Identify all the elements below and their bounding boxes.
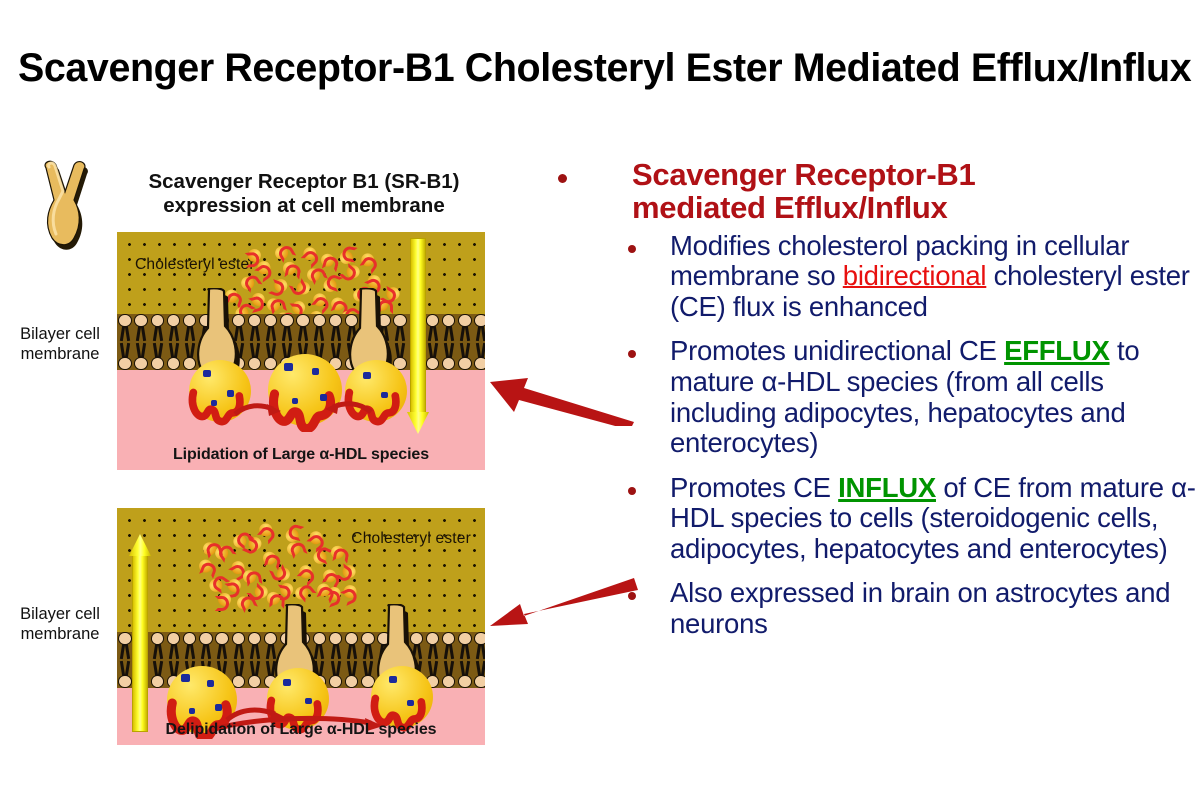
phospholipid xyxy=(247,660,263,688)
phospholipid xyxy=(441,660,457,688)
bullet-brain-expression: Also expressed in brain on astrocytes an… xyxy=(540,578,1199,639)
main-heading-line1: Scavenger Receptor-B1 xyxy=(632,158,1199,191)
bullet-list: Modifies cholesterol packing in cellular… xyxy=(540,231,1199,639)
bullet-efflux-text: Promotes unidirectional CE EFFLUX to mat… xyxy=(670,336,1199,458)
main-heading-line2: mediated Efflux/Influx xyxy=(632,191,1199,224)
bullet-brain-expression-text: Also expressed in brain on astrocytes an… xyxy=(670,578,1199,639)
bullet-dot-icon xyxy=(628,245,636,253)
sr-b1-receptor-icon xyxy=(36,158,96,250)
bullet-influx-text: Promotes CE INFLUX of CE from mature α-H… xyxy=(670,473,1199,565)
phospholipid xyxy=(457,660,473,688)
slide-root: Scavenger Receptor-B1 Cholesteryl Ester … xyxy=(0,0,1199,812)
phospholipid xyxy=(441,632,457,660)
phospholipid xyxy=(441,342,457,370)
phospholipid xyxy=(149,314,165,342)
phospholipid xyxy=(149,342,165,370)
membrane-label-line1: Bilayer cell xyxy=(4,605,116,625)
influx-panel: Cholesteryl ester xyxy=(117,508,485,745)
cholesteryl-ester-molecule xyxy=(284,526,300,544)
phospholipid xyxy=(247,632,263,660)
bullet-text-run: Promotes CE xyxy=(670,472,838,503)
highlighted-term: bidirectional xyxy=(843,260,987,291)
phospholipid xyxy=(182,632,198,660)
phospholipid xyxy=(263,314,279,342)
phospholipid xyxy=(214,632,230,660)
main-heading-bullet: Scavenger Receptor-B1 mediated Efflux/In… xyxy=(540,158,1199,225)
flux-arrow-down xyxy=(407,238,429,434)
membrane-label-line2: membrane xyxy=(4,345,116,365)
phospholipid xyxy=(457,632,473,660)
bullet-efflux: Promotes unidirectional CE EFFLUX to mat… xyxy=(540,336,1199,458)
cholesteryl-ester-molecule xyxy=(266,296,284,312)
phospholipid xyxy=(133,314,149,342)
cholesteryl-ester-molecule xyxy=(282,261,299,276)
page-title: Scavenger Receptor-B1 Cholesteryl Ester … xyxy=(18,46,1180,91)
cholesteryl-ester-molecule xyxy=(320,252,338,268)
phospholipid xyxy=(327,632,343,660)
cholesteryl-ester-molecule xyxy=(262,550,280,566)
phospholipid xyxy=(473,342,485,370)
bilayer-cell-membrane-label-top: Bilayer cell membrane xyxy=(4,325,116,365)
cholesteryl-ester-label: Cholesteryl ester xyxy=(351,530,471,548)
phospholipid xyxy=(117,314,133,342)
phospholipid xyxy=(344,660,360,688)
content-column: Scavenger Receptor-B1 mediated Efflux/In… xyxy=(540,158,1199,653)
bilayer-outer-leaflet xyxy=(117,314,485,342)
phospholipid xyxy=(166,632,182,660)
phospholipid xyxy=(344,632,360,660)
cholesteryl-ester-label: Cholesteryl ester xyxy=(135,256,255,274)
phospholipid xyxy=(473,632,485,660)
phospholipid xyxy=(311,314,327,342)
phospholipid xyxy=(425,632,441,660)
bullet-text-run: Promotes unidirectional CE xyxy=(670,335,1004,366)
bullet-dot-icon xyxy=(628,592,636,600)
phospholipid xyxy=(295,314,311,342)
phospholipid xyxy=(149,632,165,660)
phospholipid xyxy=(247,314,263,342)
bullet-bidirectional-flux-text: Modifies cholesterol packing in cellular… xyxy=(670,231,1199,323)
hdl-transfer-arrow-left xyxy=(323,398,373,420)
bullet-influx: Promotes CE INFLUX of CE from mature α-H… xyxy=(540,473,1199,565)
cholesteryl-ester-molecule xyxy=(202,540,220,556)
phospholipid xyxy=(279,314,295,342)
bullet-dot-icon xyxy=(558,174,567,183)
highlighted-term: INFLUX xyxy=(838,472,936,503)
influx-panel-footer: Delipidation of Large α-HDL species xyxy=(117,721,485,739)
figure-caption: Scavenger Receptor B1 (SR-B1) expression… xyxy=(104,170,504,218)
phospholipid xyxy=(457,314,473,342)
cholesteryl-ester-molecule xyxy=(330,545,347,560)
cholesteryl-ester-molecule xyxy=(247,248,261,264)
main-heading: Scavenger Receptor-B1 mediated Efflux/In… xyxy=(632,158,1199,225)
bullet-bidirectional-flux: Modifies cholesterol packing in cellular… xyxy=(540,231,1199,323)
figure-sr-b1-diagram: Scavenger Receptor B1 (SR-B1) expression… xyxy=(0,150,520,770)
bullet-text-run: Also expressed in brain on astrocytes an… xyxy=(670,577,1170,639)
efflux-panel: Cholesteryl ester xyxy=(117,232,485,470)
membrane-label-line2: membrane xyxy=(4,625,116,645)
highlighted-term: EFFLUX xyxy=(1004,335,1109,366)
phospholipid xyxy=(198,632,214,660)
cholesteryl-ester-molecule xyxy=(218,593,231,608)
bullet-dot-icon xyxy=(628,487,636,495)
phospholipid xyxy=(117,342,133,370)
figure-caption-line2: expression at cell membrane xyxy=(104,194,504,218)
cholesteryl-ester-molecule xyxy=(339,248,354,265)
flux-arrow-up xyxy=(129,534,151,732)
figure-caption-line1: Scavenger Receptor B1 (SR-B1) xyxy=(104,170,504,194)
phospholipid xyxy=(441,314,457,342)
membrane-label-line1: Bilayer cell xyxy=(4,325,116,345)
bullet-dot-icon xyxy=(628,350,636,358)
phospholipid xyxy=(457,342,473,370)
bilayer-cell-membrane-label-bottom: Bilayer cell membrane xyxy=(4,605,116,645)
hdl-transfer-arrow-right xyxy=(233,400,283,422)
phospholipid xyxy=(473,660,485,688)
phospholipid xyxy=(133,342,149,370)
phospholipid xyxy=(166,314,182,342)
phospholipid xyxy=(230,632,246,660)
phospholipid xyxy=(166,342,182,370)
phospholipid xyxy=(473,314,485,342)
phospholipid xyxy=(327,314,343,342)
efflux-panel-footer: Lipidation of Large α-HDL species xyxy=(117,446,485,464)
